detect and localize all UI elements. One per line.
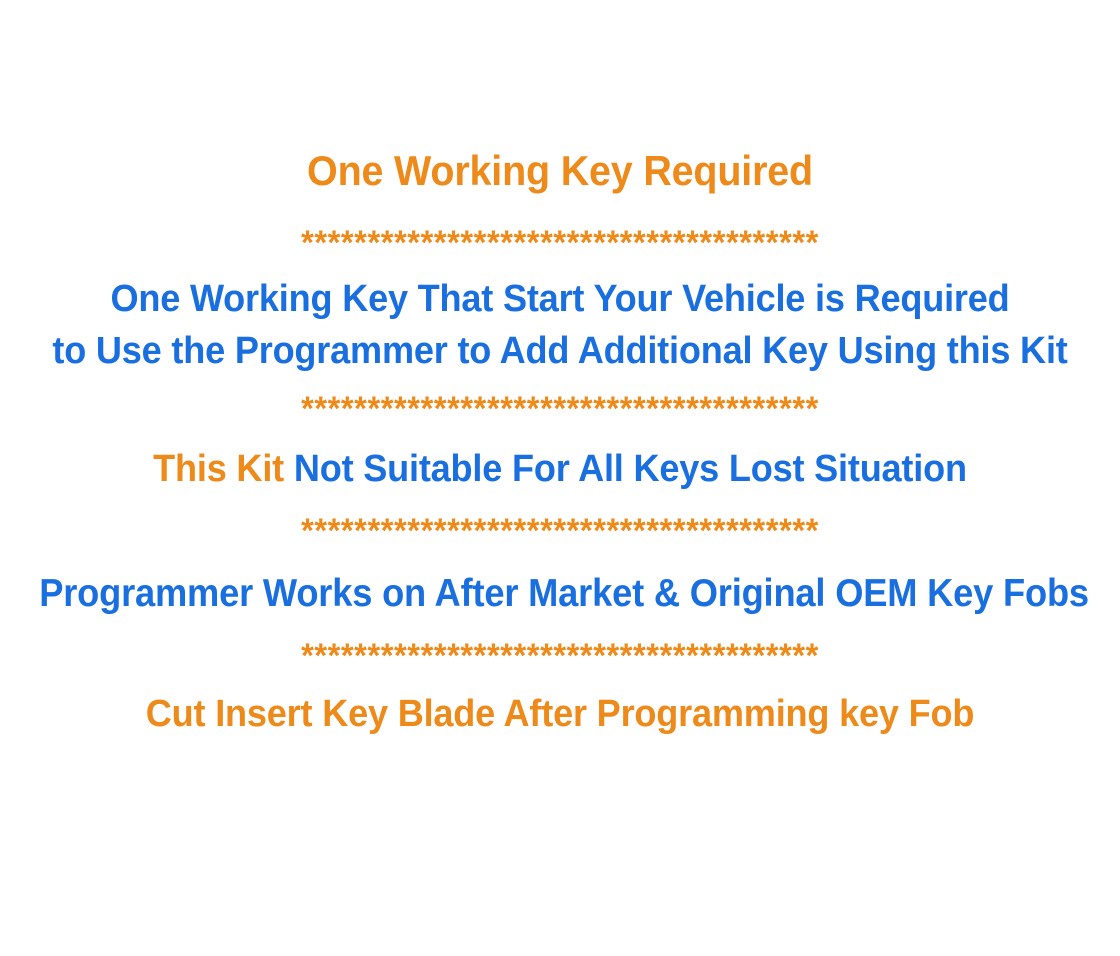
footer-instruction: Cut Insert Key Blade After Programming k… [28, 695, 1092, 733]
limitation-line: This Kit Not Suitable For All Keys Lost … [28, 450, 1092, 488]
separator-row-3: *************************************** [22, 514, 1097, 548]
compatibility-line: Programmer Works on After Market & Origi… [39, 574, 1081, 613]
separator-row-4: *************************************** [22, 639, 1097, 673]
page-title: One Working Key Required [34, 150, 1087, 192]
separator-row-2: *************************************** [22, 392, 1097, 426]
separator-row-1: *************************************** [22, 226, 1097, 260]
product-info-card: One Working Key Required ***************… [0, 0, 1120, 956]
requirement-line-1: One Working Key That Start Your Vehicle … [28, 280, 1092, 318]
limitation-highlight: This Kit [153, 448, 284, 490]
limitation-text: Not Suitable For All Keys Lost Situation [294, 448, 967, 490]
requirement-line-2: to Use the Programmer to Add Additional … [28, 332, 1092, 370]
limitation-rest [284, 448, 294, 490]
